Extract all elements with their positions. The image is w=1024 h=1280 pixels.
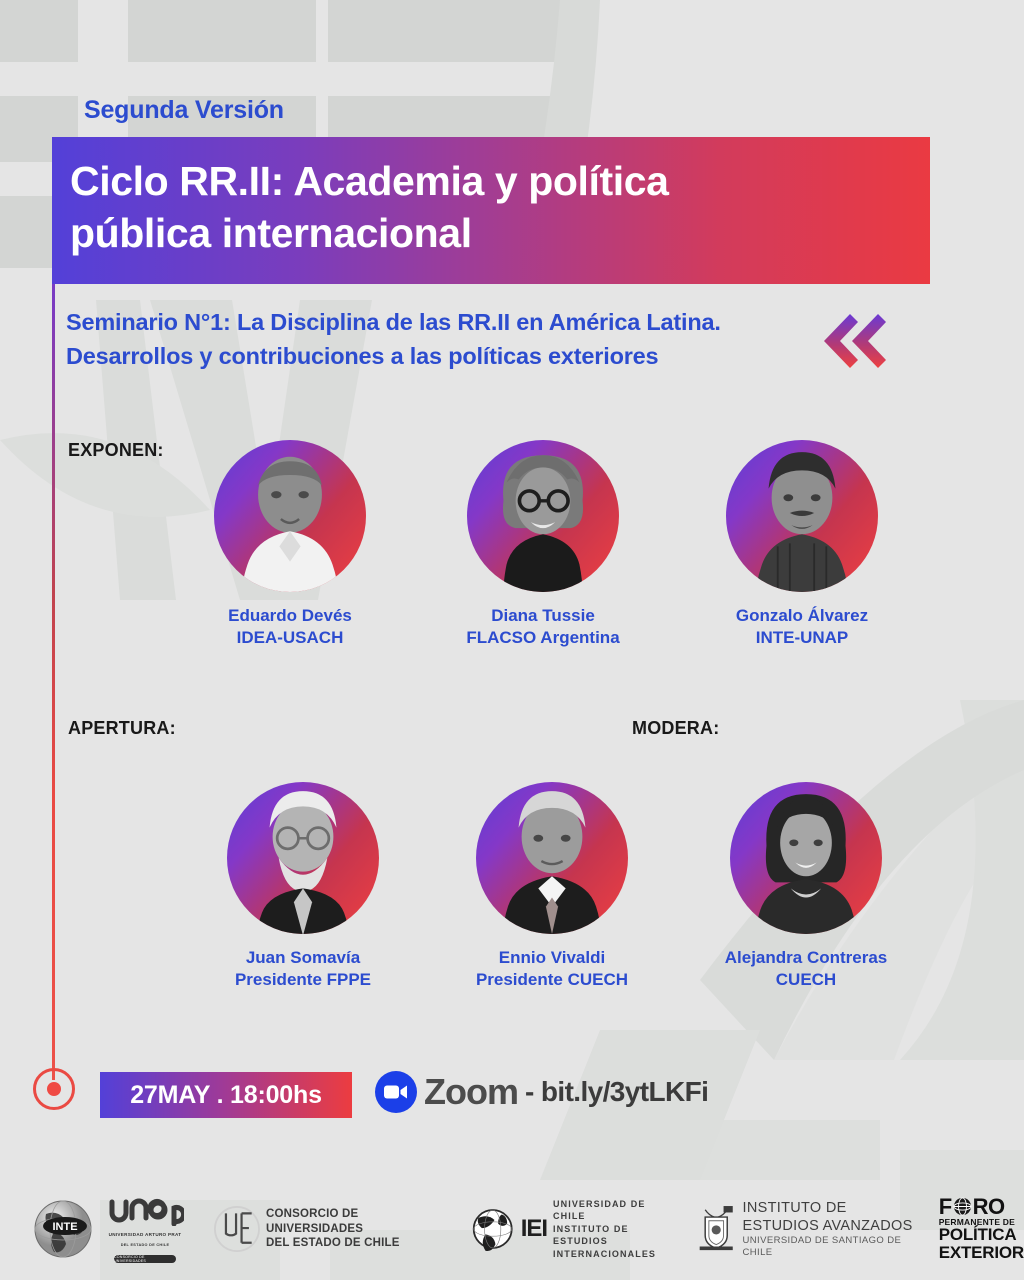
logo-consorcio: CONSORCIO DE UNIVERSIDADES DEL ESTADO DE…: [214, 1202, 443, 1256]
section-label-exponen: EXPONEN:: [68, 440, 164, 461]
foro-globe-icon: [953, 1197, 972, 1216]
logo-foro: F RO PERMANENTE DE POLÍTICA EXTERIOR: [939, 1196, 1024, 1263]
zoom-link-row[interactable]: Zoom - bit.ly/3ytLKFi: [375, 1071, 708, 1113]
logo-iea-usach: INSTITUTO DE ESTUDIOS AVANZADOS UNIVERSI…: [696, 1199, 919, 1260]
date-time-badge: 27MAY . 18:00hs: [100, 1072, 352, 1118]
logo-inte: INTE: [32, 1198, 94, 1260]
speaker-name: Ennio Vivaldi: [452, 947, 652, 969]
avatar: [726, 440, 878, 592]
logo-iei-line3: INTERNACIONALES: [553, 1248, 674, 1260]
avatar: [476, 782, 628, 934]
speaker-card: Alejandra Contreras CUECH: [706, 782, 906, 992]
ue-mark-icon: [214, 1202, 260, 1256]
logo-foro-line2: POLÍTICA: [939, 1226, 1024, 1244]
speaker-affiliation: Presidente FPPE: [203, 969, 403, 991]
avatar: [227, 782, 379, 934]
title-line-1: Ciclo RR.II: Academia y política: [70, 158, 669, 204]
title-banner: Ciclo RR.II: Academia y política pública…: [52, 137, 930, 284]
logo-foro-f: F: [939, 1196, 952, 1218]
speaker-card: Ennio Vivaldi Presidente CUECH: [452, 782, 652, 992]
speaker-affiliation: FLACSO Argentina: [443, 627, 643, 649]
subtitle-line-1: Seminario N°1: La Disciplina de las RR.I…: [66, 305, 826, 339]
double-chevron-left-icon: [818, 310, 888, 372]
speaker-affiliation: INTE-UNAP: [702, 627, 902, 649]
logo-iei-mark: IEI: [521, 1215, 547, 1243]
logo-foro-ro: RO: [973, 1196, 1005, 1218]
unap-wordmark-icon: [106, 1196, 184, 1226]
speaker-name: Alejandra Contreras: [706, 947, 906, 969]
logo-consorcio-line1: CONSORCIO DE UNIVERSIDADES: [266, 1207, 443, 1237]
speaker-name: Diana Tussie: [443, 605, 643, 627]
logo-iea-line2: ESTUDIOS AVANZADOS: [743, 1217, 919, 1235]
seminar-subtitle: Seminario N°1: La Disciplina de las RR.I…: [66, 305, 826, 373]
speaker-card: Diana Tussie FLACSO Argentina: [443, 440, 643, 650]
speaker-card: Gonzalo Álvarez INTE-UNAP: [702, 440, 902, 650]
avatar: [467, 440, 619, 592]
logo-iei-line2: INSTITUTO DE ESTUDIOS: [553, 1223, 674, 1248]
zoom-camera-icon: [375, 1071, 417, 1113]
logo-consorcio-line2: DEL ESTADO DE CHILE: [266, 1236, 443, 1251]
timeline-pin-icon: [33, 1068, 75, 1110]
speaker-affiliation: IDEA-USACH: [190, 627, 390, 649]
avatar: [730, 782, 882, 934]
speaker-card: Eduardo Devés IDEA-USACH: [190, 440, 390, 650]
speaker-name: Juan Somavía: [203, 947, 403, 969]
zoom-url[interactable]: - bit.ly/3ytLKFi: [525, 1076, 708, 1108]
globe-icon: INTE: [32, 1198, 94, 1260]
title-line-2: pública internacional: [70, 210, 472, 256]
section-label-apertura: APERTURA:: [68, 718, 176, 739]
logo-unap-line2: DEL ESTADO DE CHILE: [121, 1243, 170, 1247]
logo-iea-line3: UNIVERSIDAD DE SANTIAGO DE CHILE: [743, 1235, 919, 1260]
speaker-affiliation: Presidente CUECH: [452, 969, 652, 991]
logo-iea-line1: INSTITUTO DE: [743, 1199, 919, 1217]
usach-crest-icon: [696, 1202, 736, 1256]
avatar: [214, 440, 366, 592]
subtitle-line-2: Desarrollos y contribuciones a las polít…: [66, 339, 826, 373]
logo-iei-line1: UNIVERSIDAD DE CHILE: [553, 1198, 674, 1223]
speaker-name: Gonzalo Álvarez: [702, 605, 902, 627]
logo-inte-text: INTE: [52, 1221, 77, 1233]
logo-unap: UNIVERSIDAD ARTURO PRAT DEL ESTADO DE CH…: [106, 1196, 184, 1263]
iei-globe-icon: [471, 1203, 514, 1255]
logo-foro-line3: EXTERIOR: [939, 1244, 1024, 1262]
speaker-affiliation: CUECH: [706, 969, 906, 991]
speaker-name: Eduardo Devés: [190, 605, 390, 627]
logo-iei: IEI UNIVERSIDAD DE CHILE INSTITUTO DE ES…: [471, 1198, 674, 1260]
sponsor-logo-strip: INTE UNIVERSIDAD ARTURO PRAT DEL ESTADO …: [0, 1178, 1024, 1280]
edition-kicker: Segunda Versión: [84, 96, 284, 125]
zoom-platform-label: Zoom: [424, 1071, 518, 1113]
speaker-card: Juan Somavía Presidente FPPE: [203, 782, 403, 992]
logo-unap-pill: CONSORCIO DE UNIVERSIDADES: [114, 1255, 176, 1263]
logo-unap-line1: UNIVERSIDAD ARTURO PRAT: [109, 1232, 182, 1237]
section-label-modera: MODERA:: [632, 718, 719, 739]
